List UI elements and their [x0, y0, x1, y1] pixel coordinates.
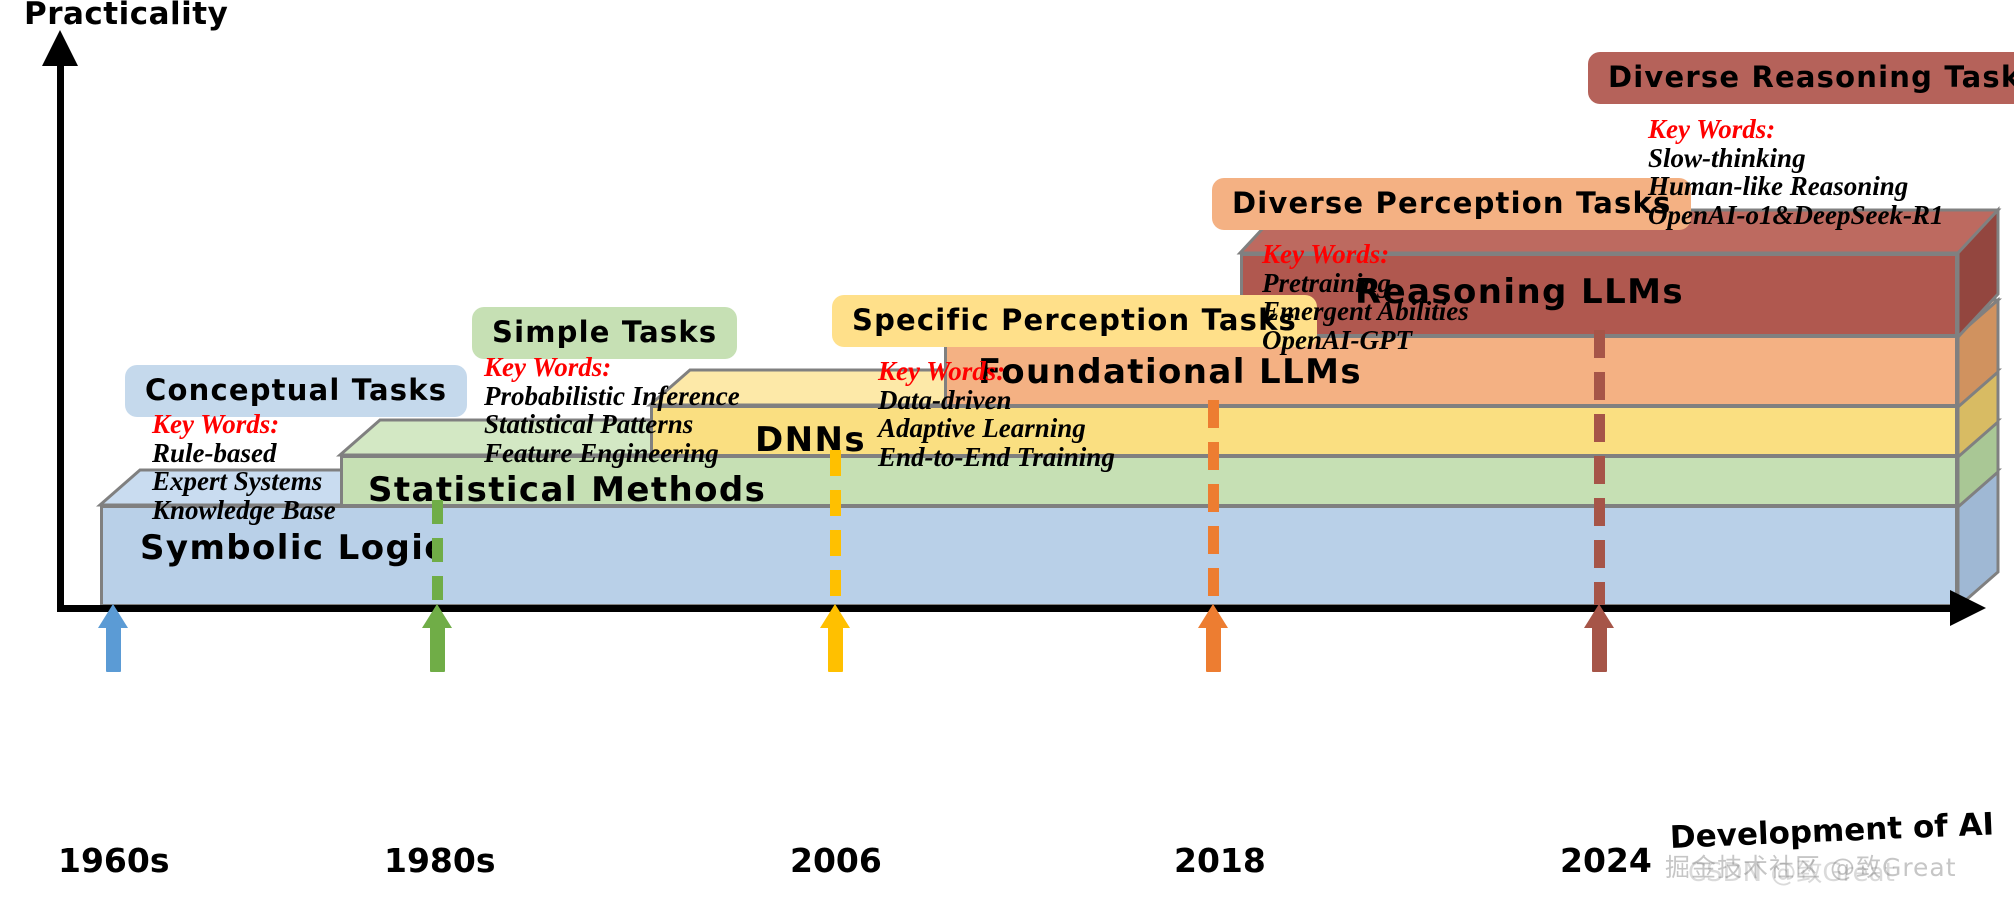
- keywords-heading: Key Words:: [1262, 240, 1469, 269]
- keyword-item: End-to-End Training: [878, 443, 1115, 472]
- keywords-foundational-llms: Key Words: Pretraining Emergent Abilitie…: [1262, 240, 1469, 354]
- year-marker-arrow-2024: [1592, 625, 1607, 672]
- year-marker-arrow-2018: [1206, 625, 1221, 672]
- year-label-2006: 2006: [790, 841, 882, 880]
- keyword-item: Knowledge Base: [152, 496, 336, 525]
- keyword-item: Feature Engineering: [484, 439, 740, 468]
- keyword-item: Expert Systems: [152, 467, 336, 496]
- watermark-text: 掘金技术社区 @致Great: [1665, 848, 1957, 884]
- keyword-item: OpenAI-o1&DeepSeek-R1: [1648, 201, 1943, 230]
- dash-line-2006: [830, 450, 841, 608]
- y-axis-line: [57, 62, 64, 610]
- year-marker-arrowhead-1980s: [422, 604, 452, 628]
- keyword-item: Pretraining: [1262, 269, 1469, 298]
- keyword-item: Probabilistic Inference: [484, 382, 740, 411]
- dnns-label: DNNs: [755, 420, 866, 460]
- pill-diverse-reasoning-tasks[interactable]: Diverse Reasoning Tasks: [1588, 52, 2014, 104]
- year-marker-arrowhead-1960s: [98, 604, 128, 628]
- year-label-2024: 2024: [1560, 841, 1652, 880]
- pill-diverse-perception-tasks[interactable]: Diverse Perception Tasks: [1212, 178, 1691, 230]
- keyword-item: OpenAI-GPT: [1262, 326, 1469, 355]
- y-axis-arrow-icon: [42, 30, 78, 66]
- keyword-item: Emergent Abilities: [1262, 297, 1469, 326]
- keyword-item: Human-like Reasoning: [1648, 172, 1943, 201]
- x-axis-arrow-icon: [1950, 590, 1986, 626]
- keywords-heading: Key Words:: [878, 357, 1115, 386]
- year-marker-arrowhead-2018: [1198, 604, 1228, 628]
- year-label-2018: 2018: [1174, 841, 1266, 880]
- keywords-dnns: Key Words: Data-driven Adaptive Learning…: [878, 357, 1115, 471]
- year-label-1980s: 1980s: [384, 841, 496, 880]
- keyword-item: Adaptive Learning: [878, 414, 1115, 443]
- keyword-item: Data-driven: [878, 386, 1115, 415]
- year-marker-arrow-1960s: [106, 625, 121, 672]
- x-axis-line: [57, 605, 1957, 612]
- keyword-item: Rule-based: [152, 439, 336, 468]
- keywords-statistical-methods: Key Words: Probabilistic Inference Stati…: [484, 353, 740, 467]
- pill-specific-perception-tasks[interactable]: Specific Perception Tasks: [832, 295, 1317, 347]
- y-axis-title: Practicality: [24, 0, 228, 32]
- keywords-heading: Key Words:: [484, 353, 740, 382]
- keywords-heading: Key Words:: [1648, 115, 1943, 144]
- keyword-item: Statistical Patterns: [484, 410, 740, 439]
- year-marker-arrowhead-2006: [820, 604, 850, 628]
- keywords-reasoning-llms: Key Words: Slow-thinking Human-like Reas…: [1648, 115, 1943, 229]
- keywords-heading: Key Words:: [152, 410, 336, 439]
- year-marker-arrow-2006: [828, 625, 843, 672]
- statistical-methods-label: Statistical Methods: [368, 470, 766, 510]
- year-label-1960s: 1960s: [58, 841, 170, 880]
- dash-line-1980s: [432, 500, 443, 608]
- symbolic-logic-label: Symbolic Logic: [140, 528, 446, 568]
- dash-line-2018: [1208, 400, 1219, 608]
- keywords-symbolic-logic: Key Words: Rule-based Expert Systems Kno…: [152, 410, 336, 524]
- keyword-item: Slow-thinking: [1648, 144, 1943, 173]
- year-marker-arrow-1980s: [430, 625, 445, 672]
- diagram-canvas: Practicality Symbolic Logic Statistical …: [0, 0, 2014, 897]
- year-marker-arrowhead-2024: [1584, 604, 1614, 628]
- dash-line-2024: [1594, 330, 1605, 608]
